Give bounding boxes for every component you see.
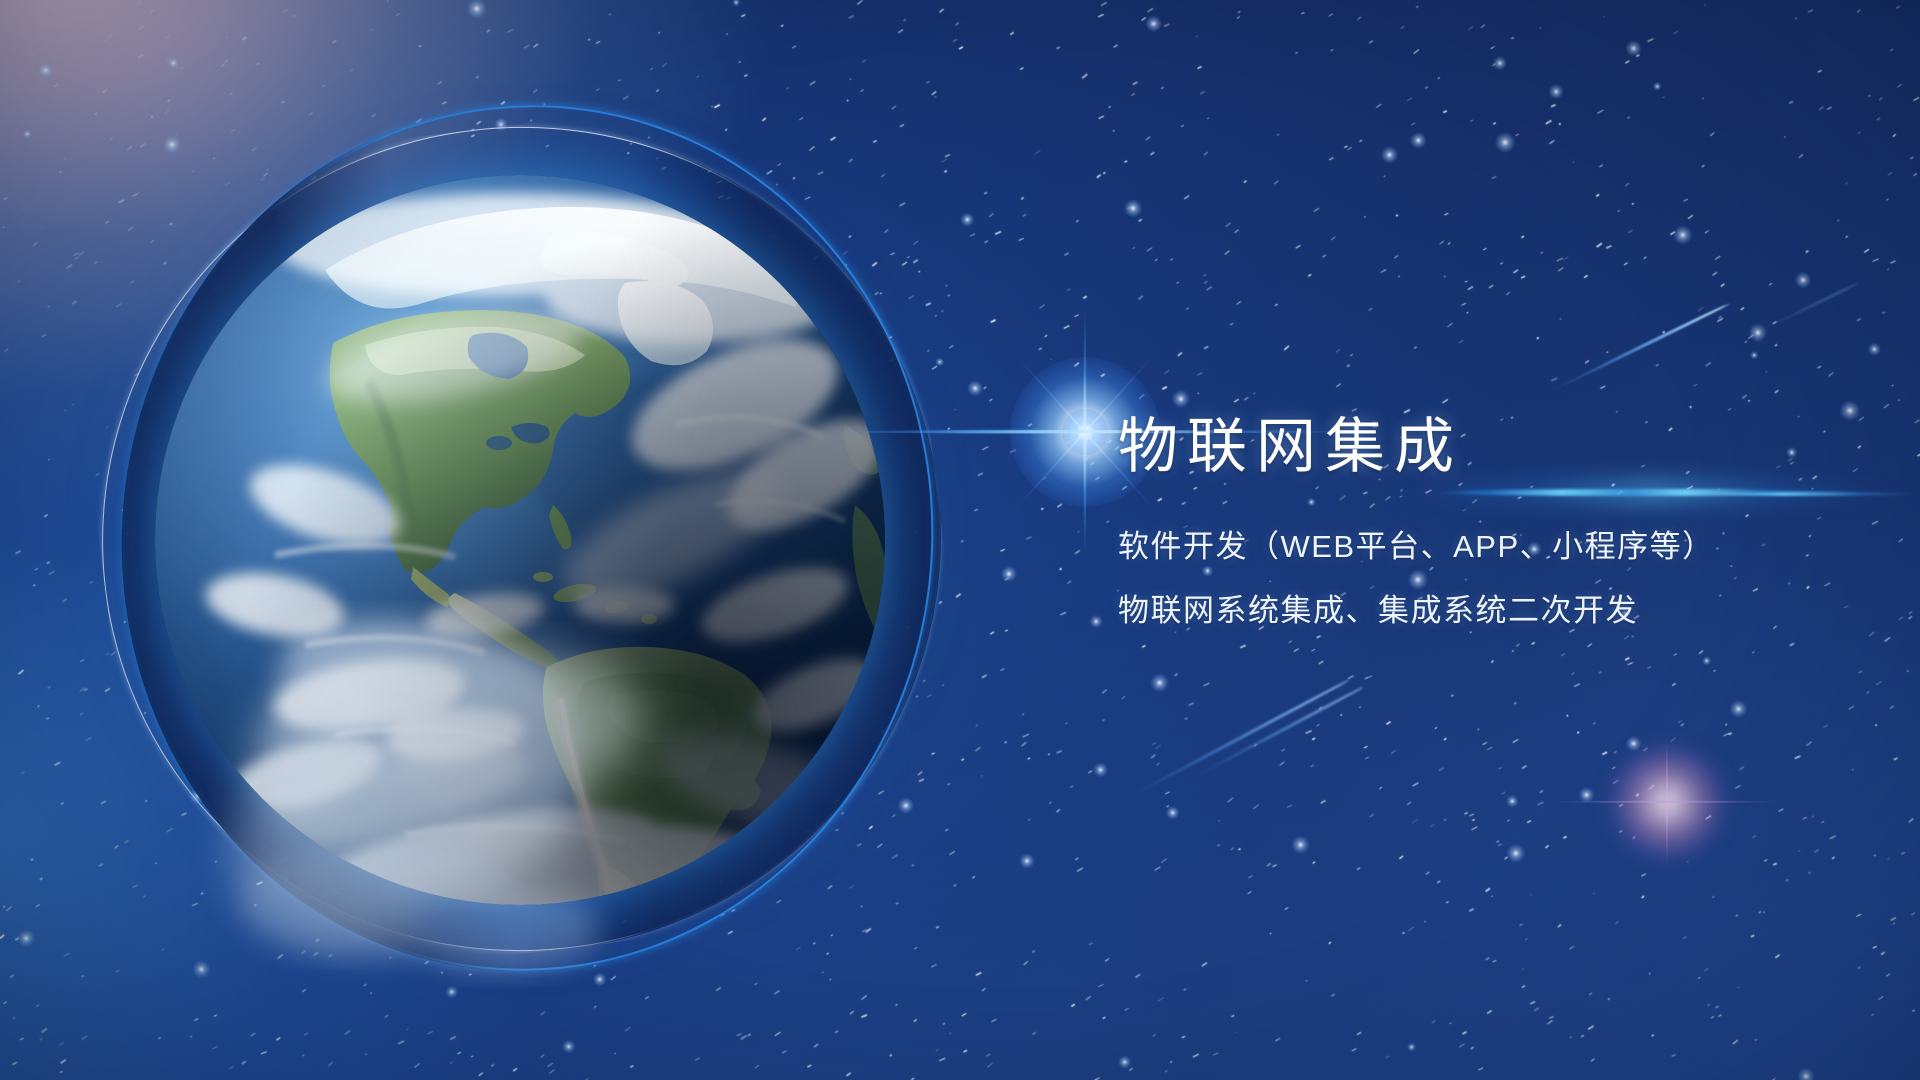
meteor-right-faint [1760, 282, 1860, 332]
secondary-ray-horizontal [1552, 801, 1782, 803]
page-title: 物联网集成 [1118, 415, 1838, 480]
meteor-lower-center-2 [1194, 686, 1363, 777]
banner-text-block: 物联网集成 软件开发（WEB平台、APP、小程序等） 物联网系统集成、集成系统二… [1118, 415, 1838, 626]
secondary-ray-vertical [1666, 737, 1668, 867]
meteor-lower-center [1129, 678, 1351, 798]
earth-globe [155, 175, 885, 905]
secondary-flare [1610, 745, 1725, 860]
iot-integration-banner: 物联网集成 软件开发（WEB平台、APP、小程序等） 物联网系统集成、集成系统二… [0, 0, 1920, 1080]
planet-disc [155, 175, 885, 905]
meteor-top-right [1549, 302, 1730, 393]
flare-ray-vertical [1083, 307, 1086, 557]
subtitle-line-2: 物联网系统集成、集成系统二次开发 [1118, 595, 1838, 626]
continents-map [155, 175, 885, 905]
subtitle-line-1: 软件开发（WEB平台、APP、小程序等） [1118, 531, 1838, 562]
meteor-top-right-2 [1589, 304, 1725, 372]
cyan-streak-left [900, 430, 1090, 433]
flare-core-inner [1062, 409, 1108, 455]
